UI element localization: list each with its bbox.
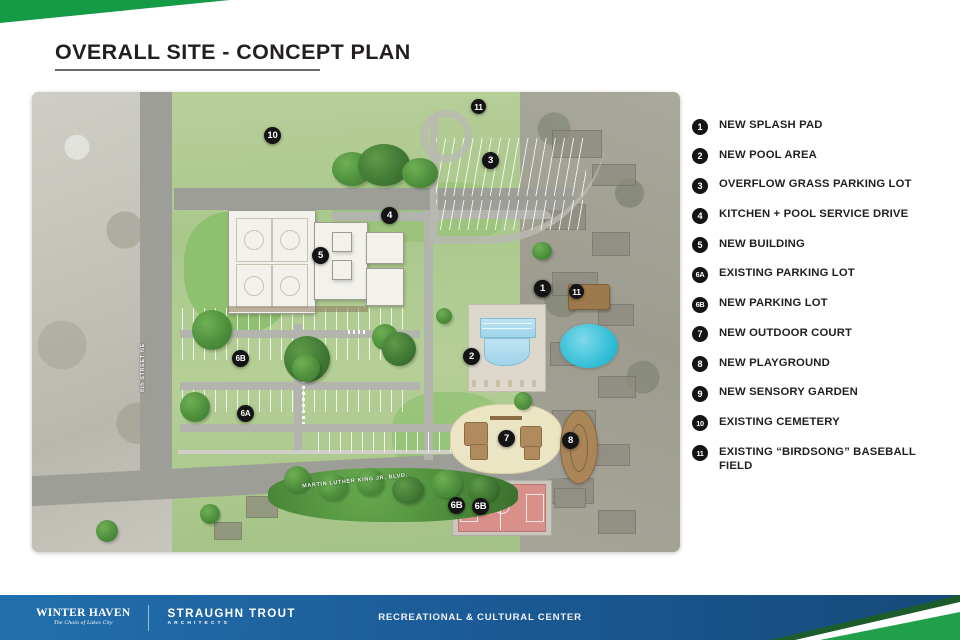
page-title-block: OVERALL SITE - CONCEPT PLAN [55,40,411,71]
title-underline [55,69,320,71]
legend-label-9: NEW SENSORY GARDEN [719,385,858,399]
legend-label-4: KITCHEN + POOL SERVICE DRIVE [719,207,908,221]
legend-item-2[interactable]: 2 NEW POOL AREA [692,148,942,165]
legend-number-3: 3 [692,178,708,194]
marker-overflow-parking[interactable]: 3 [482,152,499,169]
legend-number-9: 9 [692,386,708,402]
legend-item-11[interactable]: 11 EXISTING “BIRDSONG” BASEBALL FIELD [692,445,942,473]
legend-label-6b: NEW PARKING LOT [719,296,828,310]
legend-number-10: 10 [692,415,708,431]
marker-splash-pad-map[interactable]: 1 [534,280,551,297]
legend-item-6b[interactable]: 6B NEW PARKING LOT [692,296,942,313]
legend-label-2: NEW POOL AREA [719,148,817,162]
straughn-trout-logo: STRAUGHN TROUT ARCHITECTS [167,608,295,628]
legend-label-3: OVERFLOW GRASS PARKING LOT [719,177,912,191]
legend-item-10[interactable]: 10 EXISTING CEMETERY [692,415,942,432]
legend-item-6a[interactable]: 6A EXISTING PARKING LOT [692,266,942,283]
top-green-wedge-decoration [0,0,260,26]
legend-number-2: 2 [692,148,708,164]
legend-item-7[interactable]: 7 NEW OUTDOOR COURT [692,326,942,343]
straughn-trout-logo-sub: ARCHITECTS [167,622,295,627]
legend-number-8: 8 [692,356,708,372]
legend-number-5: 5 [692,237,708,253]
marker-baseball-field-top[interactable]: 11 [471,99,486,114]
legend-item-8[interactable]: 8 NEW PLAYGROUND [692,356,942,373]
legend-item-9[interactable]: 9 NEW SENSORY GARDEN [692,385,942,402]
legend-item-4[interactable]: 4 KITCHEN + POOL SERVICE DRIVE [692,207,942,224]
marker-outdoor-court-map[interactable]: 6B [448,497,465,514]
legend-label-6a: EXISTING PARKING LOT [719,266,855,280]
street-label-8th: 8th STREET NE [140,343,146,392]
slide: OVERALL SITE - CONCEPT PLAN [0,0,960,640]
marker-playground[interactable]: 7 [498,430,515,447]
legend-number-6a: 6A [692,267,708,283]
page-title: OVERALL SITE - CONCEPT PLAN [55,40,411,65]
winter-haven-logo-tagline: The Chain of Lakes City [36,621,130,627]
marker-cemetery[interactable]: 10 [264,127,281,144]
legend-label-1: NEW SPLASH PAD [719,118,823,132]
legend-number-1: 1 [692,119,708,135]
legend-label-7: NEW OUTDOOR COURT [719,326,852,340]
legend-label-8: NEW PLAYGROUND [719,356,830,370]
legend-item-1[interactable]: 1 NEW SPLASH PAD [692,118,942,135]
marker-pool-area[interactable]: 2 [463,348,480,365]
footer-logos: WINTER HAVEN The Chain of Lakes City STR… [36,595,296,640]
straughn-trout-logo-main: STRAUGHN TROUT [167,608,295,620]
footer: WINTER HAVEN The Chain of Lakes City STR… [0,595,960,640]
marker-sensory-garden[interactable]: 8 [562,432,579,449]
legend-label-11: EXISTING “BIRDSONG” BASEBALL FIELD [719,445,934,473]
legend-number-11: 11 [692,445,708,461]
legend-number-4: 4 [692,208,708,224]
legend: 1 NEW SPLASH PAD 2 NEW POOL AREA 3 OVERF… [692,118,942,486]
marker-new-parking[interactable]: 6B [232,350,249,367]
marker-baseball-field[interactable]: 11 [569,284,584,299]
legend-number-7: 7 [692,326,708,342]
site-plan-map[interactable]: 8th STREET NE MARTIN LUTHER KING JR. BLV… [32,92,680,552]
marker-service-drive[interactable]: 4 [381,207,398,224]
legend-label-5: NEW BUILDING [719,237,805,251]
winter-haven-logo: WINTER HAVEN The Chain of Lakes City [36,608,130,627]
legend-item-3[interactable]: 3 OVERFLOW GRASS PARKING LOT [692,177,942,194]
legend-item-5[interactable]: 5 NEW BUILDING [692,237,942,254]
logo-divider [148,605,149,631]
winter-haven-logo-main: WINTER HAVEN [36,608,130,620]
legend-label-10: EXISTING CEMETERY [719,415,840,429]
legend-number-6b: 6B [692,297,708,313]
marker-outdoor-court[interactable]: 6B [472,498,489,515]
marker-new-building[interactable]: 5 [312,247,329,264]
marker-existing-parking[interactable]: 6A [237,405,254,422]
